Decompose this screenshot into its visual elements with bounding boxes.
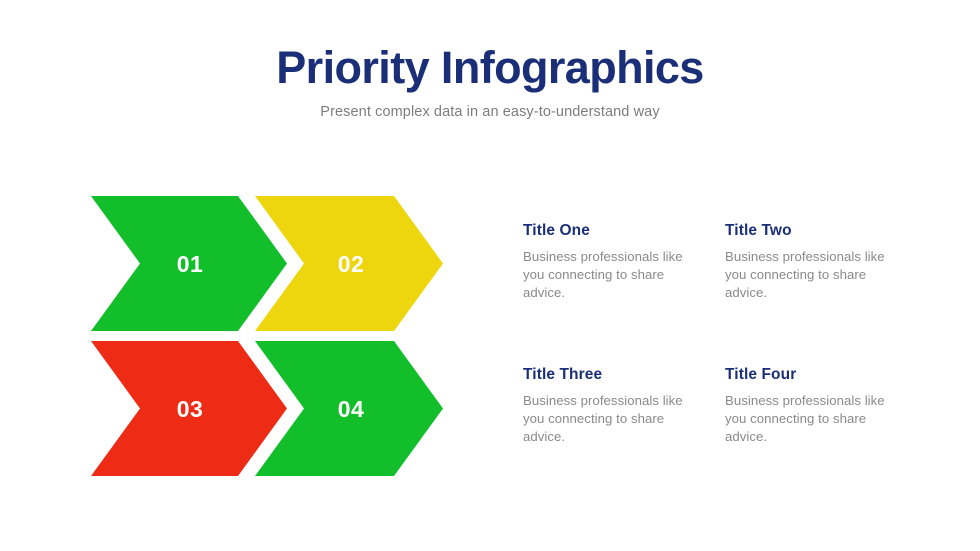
chevron-number-03: 03 (177, 396, 204, 422)
info-body-three: Business professionals like you connecti… (523, 392, 701, 447)
slide-canvas: Priority Infographics Present complex da… (0, 0, 980, 551)
info-title-four: Title Four (725, 366, 903, 384)
chevron-number-02: 02 (338, 251, 365, 277)
info-block-three: Title Three Business professionals like … (523, 366, 701, 447)
info-block-one: Title One Business professionals like yo… (523, 222, 701, 303)
info-block-four: Title Four Business professionals like y… (725, 366, 903, 447)
info-title-two: Title Two (725, 222, 903, 240)
page-subtitle: Present complex data in an easy-to-under… (0, 104, 980, 120)
info-block-two: Title Two Business professionals like yo… (725, 222, 903, 303)
info-title-three: Title Three (523, 366, 701, 384)
info-body-one: Business professionals like you connecti… (523, 248, 701, 303)
chevron-number-04: 04 (338, 396, 365, 422)
info-body-four: Business professionals like you connecti… (725, 392, 903, 447)
chevron-shape-03[interactable]: 03 (91, 341, 287, 476)
slide-header: Priority Infographics Present complex da… (0, 44, 980, 120)
page-title: Priority Infographics (0, 44, 980, 91)
info-title-one: Title One (523, 222, 701, 240)
chevron-shape-01[interactable]: 01 (91, 196, 287, 331)
info-body-two: Business professionals like you connecti… (725, 248, 903, 303)
chevron-number-01: 01 (177, 251, 204, 277)
